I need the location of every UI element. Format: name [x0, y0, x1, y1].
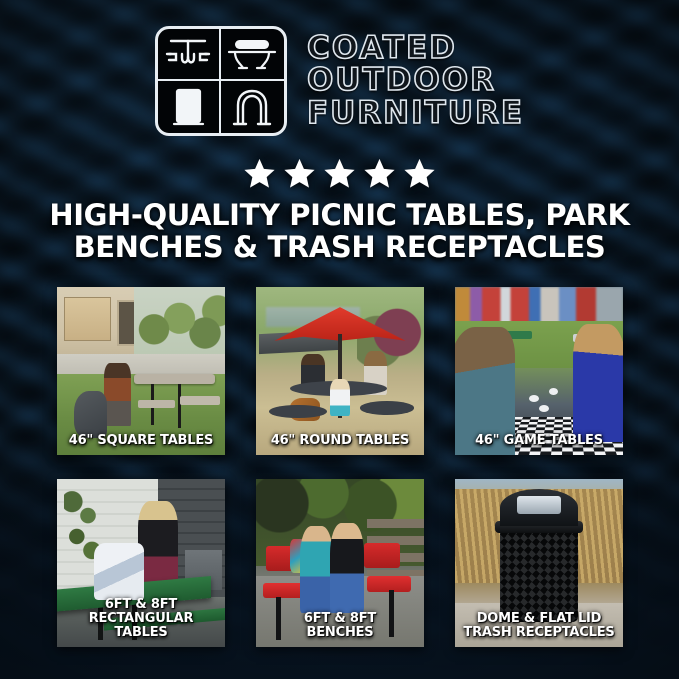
star-icon-2	[283, 157, 316, 190]
product-tile-rectangular-tables[interactable]: 6FT & 8FT RECTANGULAR TABLES	[57, 479, 225, 647]
headline: HIGH-QUALITY PICNIC TABLES, PARK BENCHES…	[0, 200, 679, 264]
star-icon-4	[363, 157, 396, 190]
brand-logo: COATED OUTDOOR FURNITURE	[0, 26, 679, 136]
product-caption: 46" SQUARE TABLES	[57, 434, 225, 448]
headline-line-2: BENCHES & TRASH RECEPTACLES	[22, 232, 657, 264]
star-icon-1	[243, 157, 276, 190]
product-grid: 46" SQUARE TABLES 46" ROUND TABLES	[57, 287, 623, 647]
headline-line-1: HIGH-QUALITY PICNIC TABLES, PARK	[22, 200, 657, 232]
banner-content: COATED OUTDOOR FURNITURE	[0, 0, 679, 679]
product-photo-game-tables	[455, 287, 623, 455]
product-photo-square-tables	[57, 287, 225, 455]
trash-receptacle-icon	[158, 81, 221, 133]
caption-line-1: 46" SQUARE TABLES	[61, 434, 221, 448]
product-tile-round-tables[interactable]: 46" ROUND TABLES	[256, 287, 424, 455]
product-caption: 46" ROUND TABLES	[256, 434, 424, 448]
picnic-table-icon	[158, 29, 221, 81]
bench-icon	[221, 29, 284, 81]
brand-word-2: OUTDOOR	[307, 65, 524, 97]
product-tile-trash-receptacles[interactable]: DOME & FLAT LID TRASH RECEPTACLES	[455, 479, 623, 647]
logo-icon-grid	[155, 26, 287, 136]
caption-line-1: 6FT & 8FT	[260, 612, 420, 626]
brand-word-3: FURNITURE	[307, 98, 524, 130]
caption-line-1: DOME & FLAT LID	[459, 612, 619, 626]
product-tile-benches[interactable]: 6FT & 8FT BENCHES	[256, 479, 424, 647]
caption-line-1: 46" ROUND TABLES	[260, 434, 420, 448]
caption-line-2: RECTANGULAR TABLES	[61, 612, 221, 640]
promo-banner: COATED OUTDOOR FURNITURE	[0, 0, 679, 679]
caption-line-1: 6FT & 8FT	[61, 598, 221, 612]
product-caption: 6FT & 8FT BENCHES	[256, 612, 424, 640]
product-photo-round-tables	[256, 287, 424, 455]
caption-line-2: BENCHES	[260, 626, 420, 640]
product-caption: 6FT & 8FT RECTANGULAR TABLES	[57, 598, 225, 640]
product-tile-square-tables[interactable]: 46" SQUARE TABLES	[57, 287, 225, 455]
star-rating	[0, 157, 679, 190]
brand-word-1: COATED	[307, 33, 524, 65]
product-caption: 46" GAME TABLES	[455, 434, 623, 448]
star-icon-5	[403, 157, 436, 190]
brand-wordmark: COATED OUTDOOR FURNITURE	[307, 33, 524, 130]
product-caption: DOME & FLAT LID TRASH RECEPTACLES	[455, 612, 623, 640]
product-tile-game-tables[interactable]: 46" GAME TABLES	[455, 287, 623, 455]
caption-line-2: TRASH RECEPTACLES	[459, 626, 619, 640]
caption-line-1: 46" GAME TABLES	[459, 434, 619, 448]
bike-rack-icon	[221, 81, 284, 133]
star-icon-3	[323, 157, 356, 190]
